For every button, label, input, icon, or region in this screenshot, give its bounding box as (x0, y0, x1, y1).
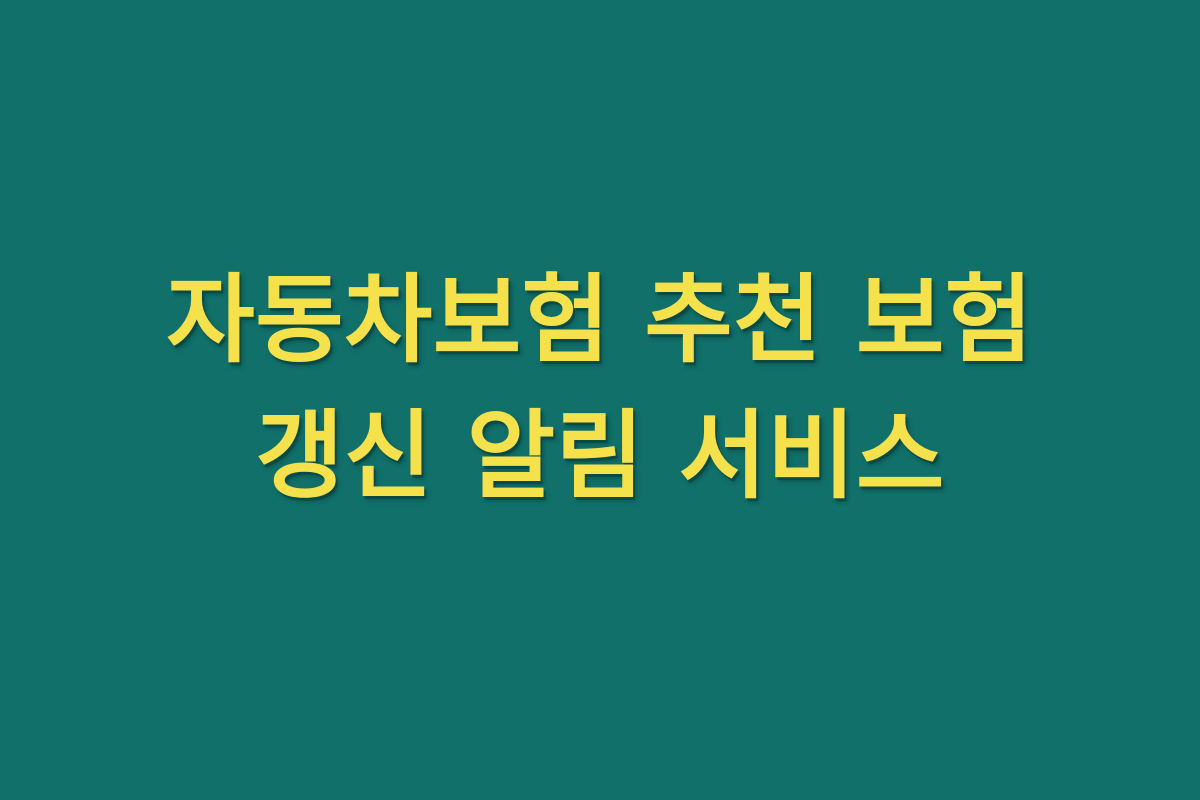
page-title: 자동차보험 추천 보험 갱신 알림 서비스 (80, 252, 1120, 525)
banner-canvas: 자동차보험 추천 보험 갱신 알림 서비스 (0, 0, 1200, 800)
headline-container: 자동차보험 추천 보험 갱신 알림 서비스 (80, 252, 1120, 525)
